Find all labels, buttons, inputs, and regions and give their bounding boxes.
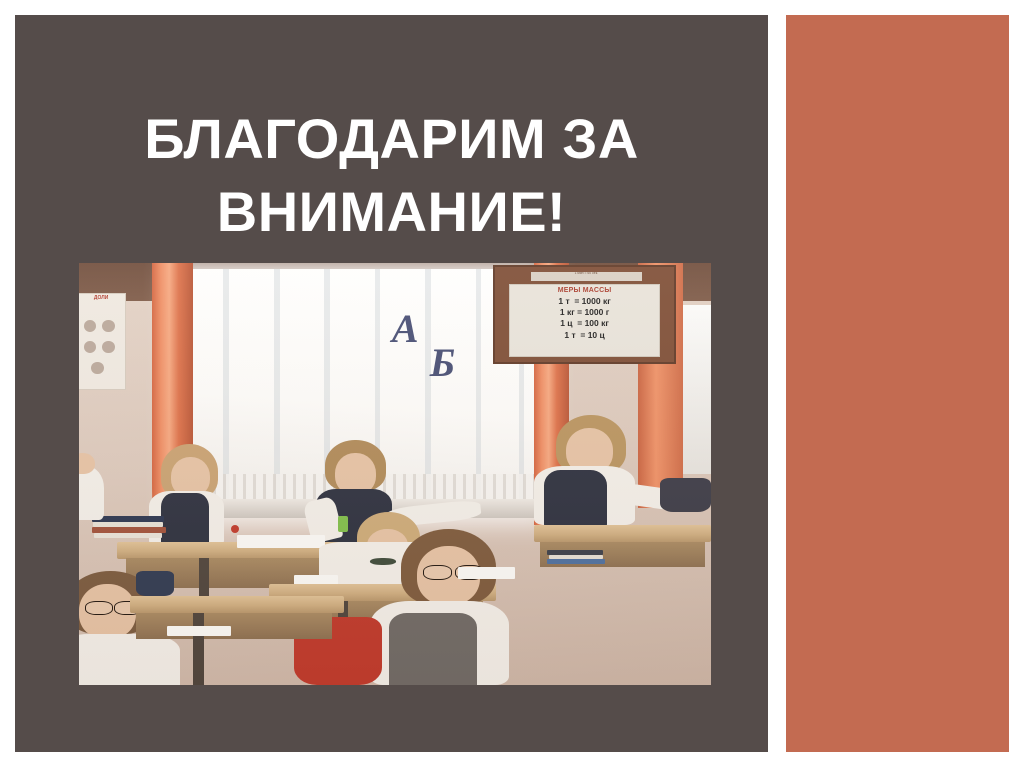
poster-mass-row: 1 т = 1000 кг <box>513 296 656 307</box>
photo-scene: ДОЛИ 1 мин = 60 сек. МЕРЫ МАССЫ 1 т = 10… <box>79 263 711 685</box>
poster-mass-row: 1 ц = 100 кг <box>513 318 656 329</box>
poster-doli-title: ДОЛИ <box>79 294 125 301</box>
poster-mass-row: 1 т = 10 ц <box>513 330 656 341</box>
poster-doli: ДОЛИ <box>79 293 126 390</box>
classroom-photo: ДОЛИ 1 мин = 60 сек. МЕРЫ МАССЫ 1 т = 10… <box>79 263 711 685</box>
page-title: БЛАГОДАРИМ ЗА ВНИМАНИЕ! <box>55 103 728 249</box>
poster-mass-row: 1 кг = 1000 г <box>513 307 656 318</box>
chalkboard: 1 мин = 60 сек. МЕРЫ МАССЫ 1 т = 1000 кг… <box>493 265 676 364</box>
board-micro-strip: 1 мин = 60 сек. <box>531 272 642 282</box>
accent-panel <box>786 15 1009 752</box>
presentation-slide: БЛАГОДАРИМ ЗА ВНИМАНИЕ! <box>0 0 1024 767</box>
poster-mery-massy: МЕРЫ МАССЫ 1 т = 1000 кг 1 кг = 1000 г 1… <box>509 284 660 356</box>
wall-letter-a: А <box>392 305 419 352</box>
poster-mass-title: МЕРЫ МАССЫ <box>513 287 656 296</box>
main-panel: БЛАГОДАРИМ ЗА ВНИМАНИЕ! <box>15 15 768 752</box>
wall-letter-b: Б <box>430 339 455 386</box>
